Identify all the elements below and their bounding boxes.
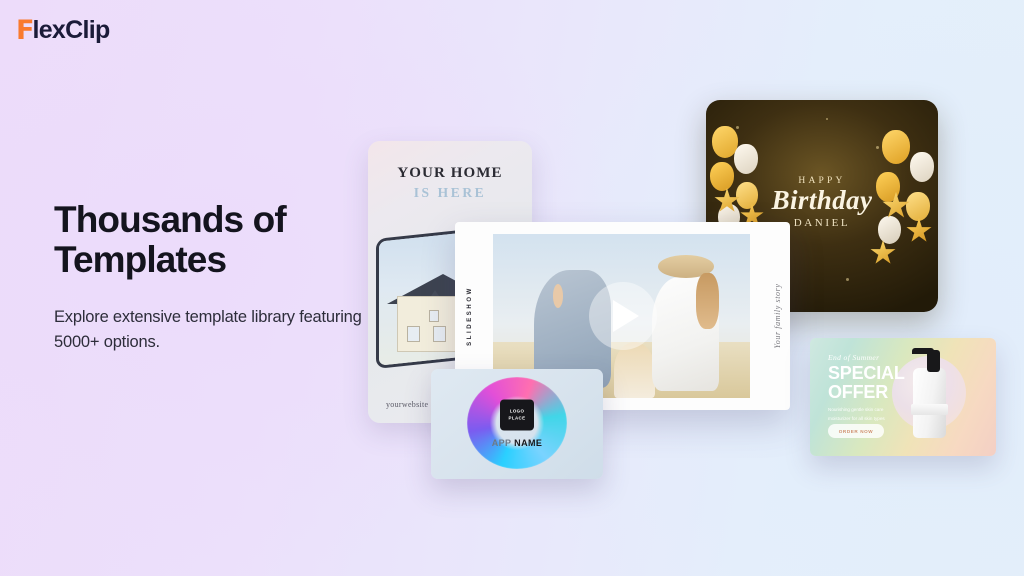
app-name-label: APP NAME bbox=[431, 438, 603, 448]
house-window bbox=[407, 326, 420, 342]
offer-title-line2: OFFER bbox=[828, 383, 905, 402]
hero-subcopy: Explore extensive template library featu… bbox=[54, 305, 384, 356]
offer-body-text: Nourishing gentle skin care moisturizer … bbox=[828, 406, 912, 423]
sparkle-icon bbox=[736, 126, 739, 129]
balloon bbox=[734, 144, 758, 174]
logo-f-mark: F bbox=[16, 17, 33, 44]
slideshow-script-text: Your family story bbox=[773, 283, 782, 348]
offer-body-line1: Nourishing gentle skin care bbox=[828, 406, 912, 415]
offer-body-line2: moisturizer for all skin types bbox=[828, 415, 912, 424]
photo-person-head bbox=[553, 284, 563, 308]
product-nozzle bbox=[912, 348, 934, 354]
logo-placeholder-line2: PLACE bbox=[509, 415, 526, 422]
logo-placeholder-box: LOGO PLACE bbox=[500, 400, 534, 431]
house-window bbox=[433, 326, 446, 342]
real-estate-title-line1: YOUR HOME bbox=[368, 165, 532, 182]
balloon bbox=[882, 130, 910, 164]
app-name-suffix: NAME bbox=[514, 438, 542, 448]
offer-title: SPECIAL OFFER bbox=[828, 364, 905, 402]
order-now-button[interactable]: ORDER NOW bbox=[828, 424, 884, 438]
real-estate-title-line2: IS HERE bbox=[368, 185, 532, 201]
slideshow-label: SLIDESHOW bbox=[467, 286, 473, 346]
flexclip-logo[interactable]: F lexClip bbox=[16, 16, 110, 44]
sparkle-icon bbox=[826, 118, 828, 120]
real-estate-website: yourwebsite bbox=[386, 400, 428, 409]
product-label-band bbox=[911, 404, 948, 415]
star bbox=[870, 240, 896, 266]
logo-placeholder-line1: LOGO bbox=[510, 409, 525, 416]
play-icon[interactable] bbox=[589, 282, 657, 350]
birthday-title: Birthday bbox=[706, 185, 938, 216]
template-card-app-logo[interactable]: LOGO PLACE APP NAME bbox=[431, 369, 603, 479]
product-bottle bbox=[913, 368, 946, 438]
photo-person-child bbox=[614, 342, 655, 398]
sparkle-icon bbox=[876, 146, 879, 149]
template-card-special-offer[interactable]: End of Summer SPECIAL OFFER Nourishing g… bbox=[810, 338, 996, 456]
real-estate-title: YOUR HOME IS HERE bbox=[368, 165, 532, 201]
house-window bbox=[429, 310, 439, 322]
logo-wordmark: lexClip bbox=[32, 18, 109, 43]
offer-title-line1: SPECIAL bbox=[828, 364, 905, 383]
app-name-prefix: APP bbox=[492, 438, 512, 448]
hero-copy: Thousands of Templates Explore extensive… bbox=[54, 200, 384, 356]
sparkle-icon bbox=[846, 278, 849, 281]
play-triangle bbox=[613, 300, 639, 332]
photo-hair bbox=[696, 273, 719, 329]
page-title: Thousands of Templates bbox=[54, 200, 384, 281]
offer-script-text: End of Summer bbox=[828, 353, 879, 362]
